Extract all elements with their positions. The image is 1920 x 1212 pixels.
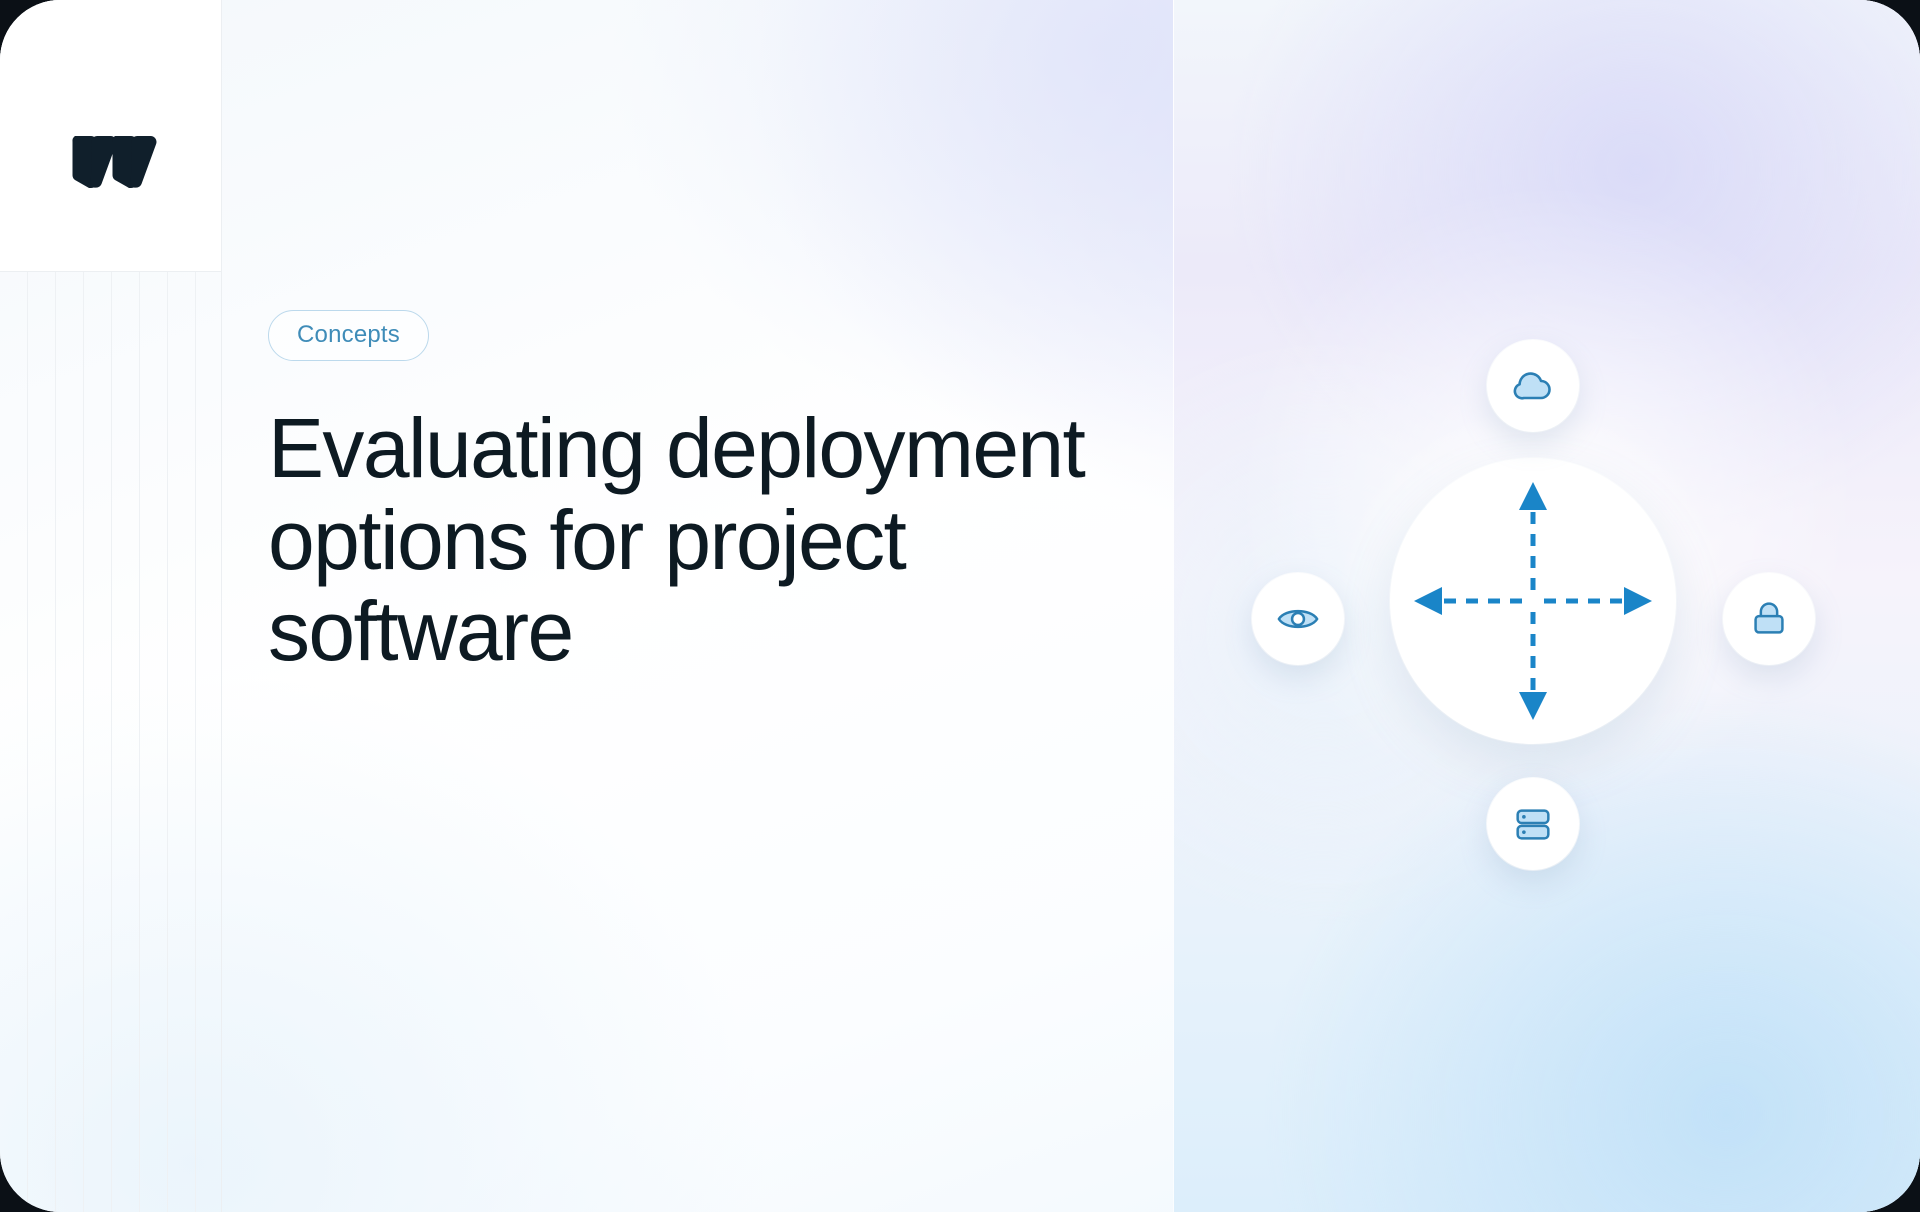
- left-rail: [0, 0, 222, 1212]
- node-infrastructure[interactable]: [1487, 778, 1579, 870]
- eye-icon: [1275, 596, 1321, 642]
- cloud-icon: [1509, 362, 1557, 410]
- arrow-left-head: [1414, 587, 1442, 615]
- rail-header: [0, 0, 222, 272]
- hero-content: Concepts Evaluating deployment options f…: [268, 310, 1148, 678]
- hero-card: Concepts Evaluating deployment options f…: [0, 0, 1920, 1212]
- arrow-right-head: [1624, 587, 1652, 615]
- arrow-up-head: [1519, 482, 1547, 510]
- brand-logo[interactable]: [63, 128, 173, 198]
- page-title: Evaluating deployment options for projec…: [268, 403, 1148, 678]
- node-visibility[interactable]: [1252, 573, 1344, 665]
- node-cloud[interactable]: [1487, 340, 1579, 432]
- node-security[interactable]: [1723, 573, 1815, 665]
- lock-icon: [1746, 596, 1792, 642]
- category-badge[interactable]: Concepts: [268, 310, 429, 361]
- page-root: Concepts Evaluating deployment options f…: [0, 0, 1920, 1212]
- server-icon: [1510, 801, 1556, 847]
- rail-stripe-pattern: [0, 272, 222, 1212]
- hub-circle: [1390, 458, 1676, 744]
- arrow-down-head: [1519, 692, 1547, 720]
- rail-vertical-divider: [221, 0, 222, 1212]
